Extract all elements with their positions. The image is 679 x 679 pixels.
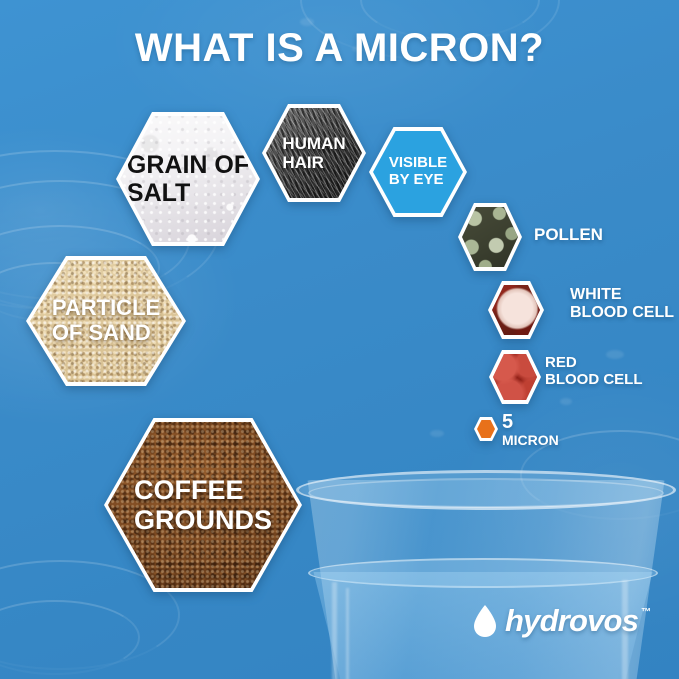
micron-value: 5 <box>502 411 513 433</box>
hexagon-visible-by-eye[interactable]: VISIBLE BY EYE <box>369 127 467 217</box>
trademark-symbol: ™ <box>641 607 651 618</box>
hexagon-label-line2: OF SAND <box>52 320 151 345</box>
side-label-line2: BLOOD CELL <box>570 304 674 321</box>
side-label-line2: BLOOD CELL <box>545 371 643 388</box>
hexagon-label-line2: SALT <box>127 179 190 207</box>
hexagon-human-hair[interactable]: HUMAN HAIR <box>262 104 366 202</box>
hexagon-fill: COFFEE GROUNDS <box>108 422 298 588</box>
hexagon-pollen[interactable] <box>458 203 522 271</box>
hexagon-label-line1: PARTICLE <box>52 295 160 320</box>
hexagon-label-line1: VISIBLE <box>389 154 447 171</box>
label-pollen: POLLEN <box>534 225 603 244</box>
side-label-line1: RED <box>545 354 577 371</box>
hexagon-grain-of-salt[interactable]: GRAIN OF SALT <box>116 112 260 246</box>
micron-size-infographic: WHAT IS A MICRON? GRAIN OF SALT HUMAN HA… <box>0 0 679 679</box>
brand-logo: hydrovos ™ <box>472 603 651 639</box>
page-title: WHAT IS A MICRON? <box>0 26 679 71</box>
hexagon-coffee-grounds[interactable]: COFFEE GROUNDS <box>104 418 302 592</box>
label-white-blood-cell: WHITE BLOOD CELL <box>570 286 674 322</box>
hexagon-particle-of-sand[interactable]: PARTICLE OF SAND <box>26 256 186 386</box>
hexagon-five-micron-marker[interactable] <box>474 417 498 441</box>
hexagon-label-line1: HUMAN <box>282 134 345 153</box>
label-red-blood-cell: RED BLOOD CELL <box>545 355 643 389</box>
label-five-micron: 5 MICRON <box>502 411 559 449</box>
hexagon-label-line1: COFFEE <box>134 475 244 505</box>
side-label-line1: POLLEN <box>534 225 603 244</box>
side-label-line1: WHITE <box>570 286 622 303</box>
micron-unit: MICRON <box>502 432 559 448</box>
glass-of-water-image <box>292 462 679 679</box>
hexagon-label-line1: GRAIN OF <box>127 151 249 179</box>
hexagon-label-line2: GROUNDS <box>134 505 272 535</box>
hexagon-white-blood-cell[interactable] <box>488 281 544 339</box>
hexagon-label-line2: HAIR <box>282 153 324 172</box>
hexagon-label-line2: BY EYE <box>389 171 444 188</box>
hexagon-red-blood-cell[interactable] <box>489 350 541 404</box>
brand-name: hydrovos <box>505 603 638 639</box>
water-drop-icon <box>472 604 498 638</box>
